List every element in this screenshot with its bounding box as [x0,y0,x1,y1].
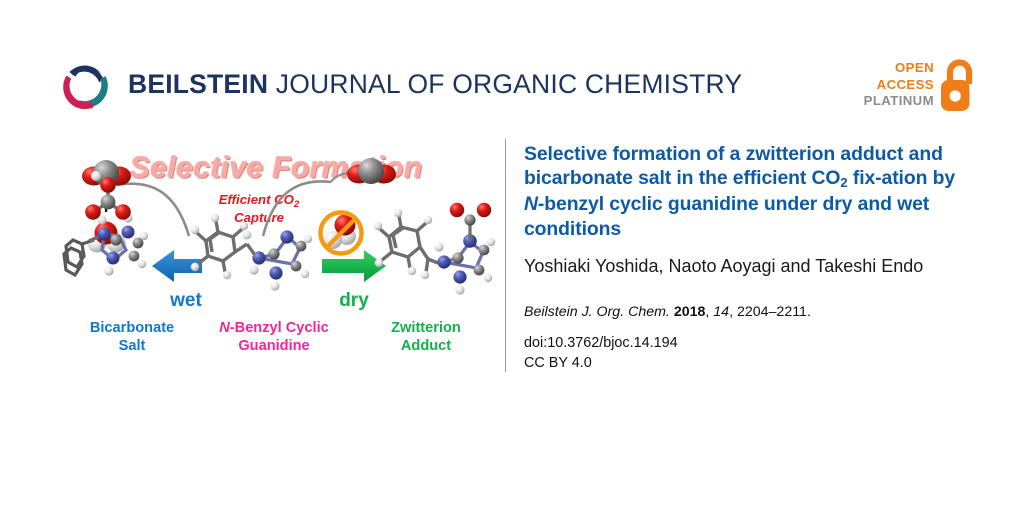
citation-volume: 14 [713,304,729,320]
no-water-prohibition-icon [321,213,362,254]
graphical-abstract: Selective Formation Efficient CO2 Captur… [56,140,496,365]
center-label-line1: -Benzyl Cyclic [230,320,329,336]
citation-journal: Beilstein J. Org. Chem. [524,304,670,320]
article-card: BEILSTEIN JOURNAL OF ORGANIC CHEMISTRY O… [0,0,1024,512]
n-benzyl-cyclic-guanidine-label: N-Benzyl Cyclic Guanidine [184,320,364,355]
dry-condition-label: dry [314,290,394,312]
vertical-divider [505,139,506,372]
title-subscript: 2 [840,175,847,190]
bicarbonate-label-line2: Salt [119,338,146,354]
oa-line-platinum: PLATINUM [864,93,934,110]
center-label-line2: Guanidine [238,338,309,354]
open-access-text: OPEN ACCESS PLATINUM [864,60,934,110]
journal-header: BEILSTEIN JOURNAL OF ORGANIC CHEMISTRY O… [0,0,1024,130]
citation-year: 2018 [674,304,706,320]
oa-line-open: OPEN [864,60,934,77]
open-padlock-icon [938,58,978,114]
beilstein-swirl-logo-icon [55,54,117,116]
n-benzyl-cyclic-guanidine-model [191,214,312,291]
citation-line: Beilstein J. Org. Chem. 2018, 14, 2204–2… [524,304,976,320]
doi-link[interactable]: doi:10.3762/bjoc.14.194 [524,333,976,353]
zwitterion-adduct-label: Zwitterion Adduct [356,320,496,355]
wet-condition-label: wet [146,290,226,312]
co2-molecule-icon-right [347,158,396,184]
zwitterion-adduct-model [374,203,495,295]
wordmark-bold: BEILSTEIN [128,69,268,99]
journal-wordmark: BEILSTEIN JOURNAL OF ORGANIC CHEMISTRY [128,68,742,100]
bicarbonate-salt-label: Bicarbonate Salt [62,320,202,355]
title-italic-n: N [524,193,538,215]
article-title: Selective formation of a zwitterion addu… [524,142,976,241]
zwitterion-label-line2: Adduct [401,338,451,354]
title-segment-3: -benzyl cyclic guanidine under dry and w… [524,193,929,239]
author-list: Yoshiaki Yoshida, Naoto Aoyagi and Takes… [524,255,976,278]
center-label-italic-n: N [219,320,230,336]
bicarbonate-label-line1: Bicarbonate [90,320,174,336]
wordmark-light: JOURNAL OF ORGANIC CHEMISTRY [276,69,742,99]
zwitterion-label-line1: Zwitterion [391,320,461,336]
oa-line-access: ACCESS [864,77,934,94]
license-label[interactable]: CC BY 4.0 [524,353,976,373]
open-access-badge: OPEN ACCESS PLATINUM [866,58,978,116]
title-segment-2: fix-ation by [848,167,956,189]
article-metadata: Selective formation of a zwitterion addu… [524,142,976,373]
citation-pages: 2204–2211. [737,304,811,320]
